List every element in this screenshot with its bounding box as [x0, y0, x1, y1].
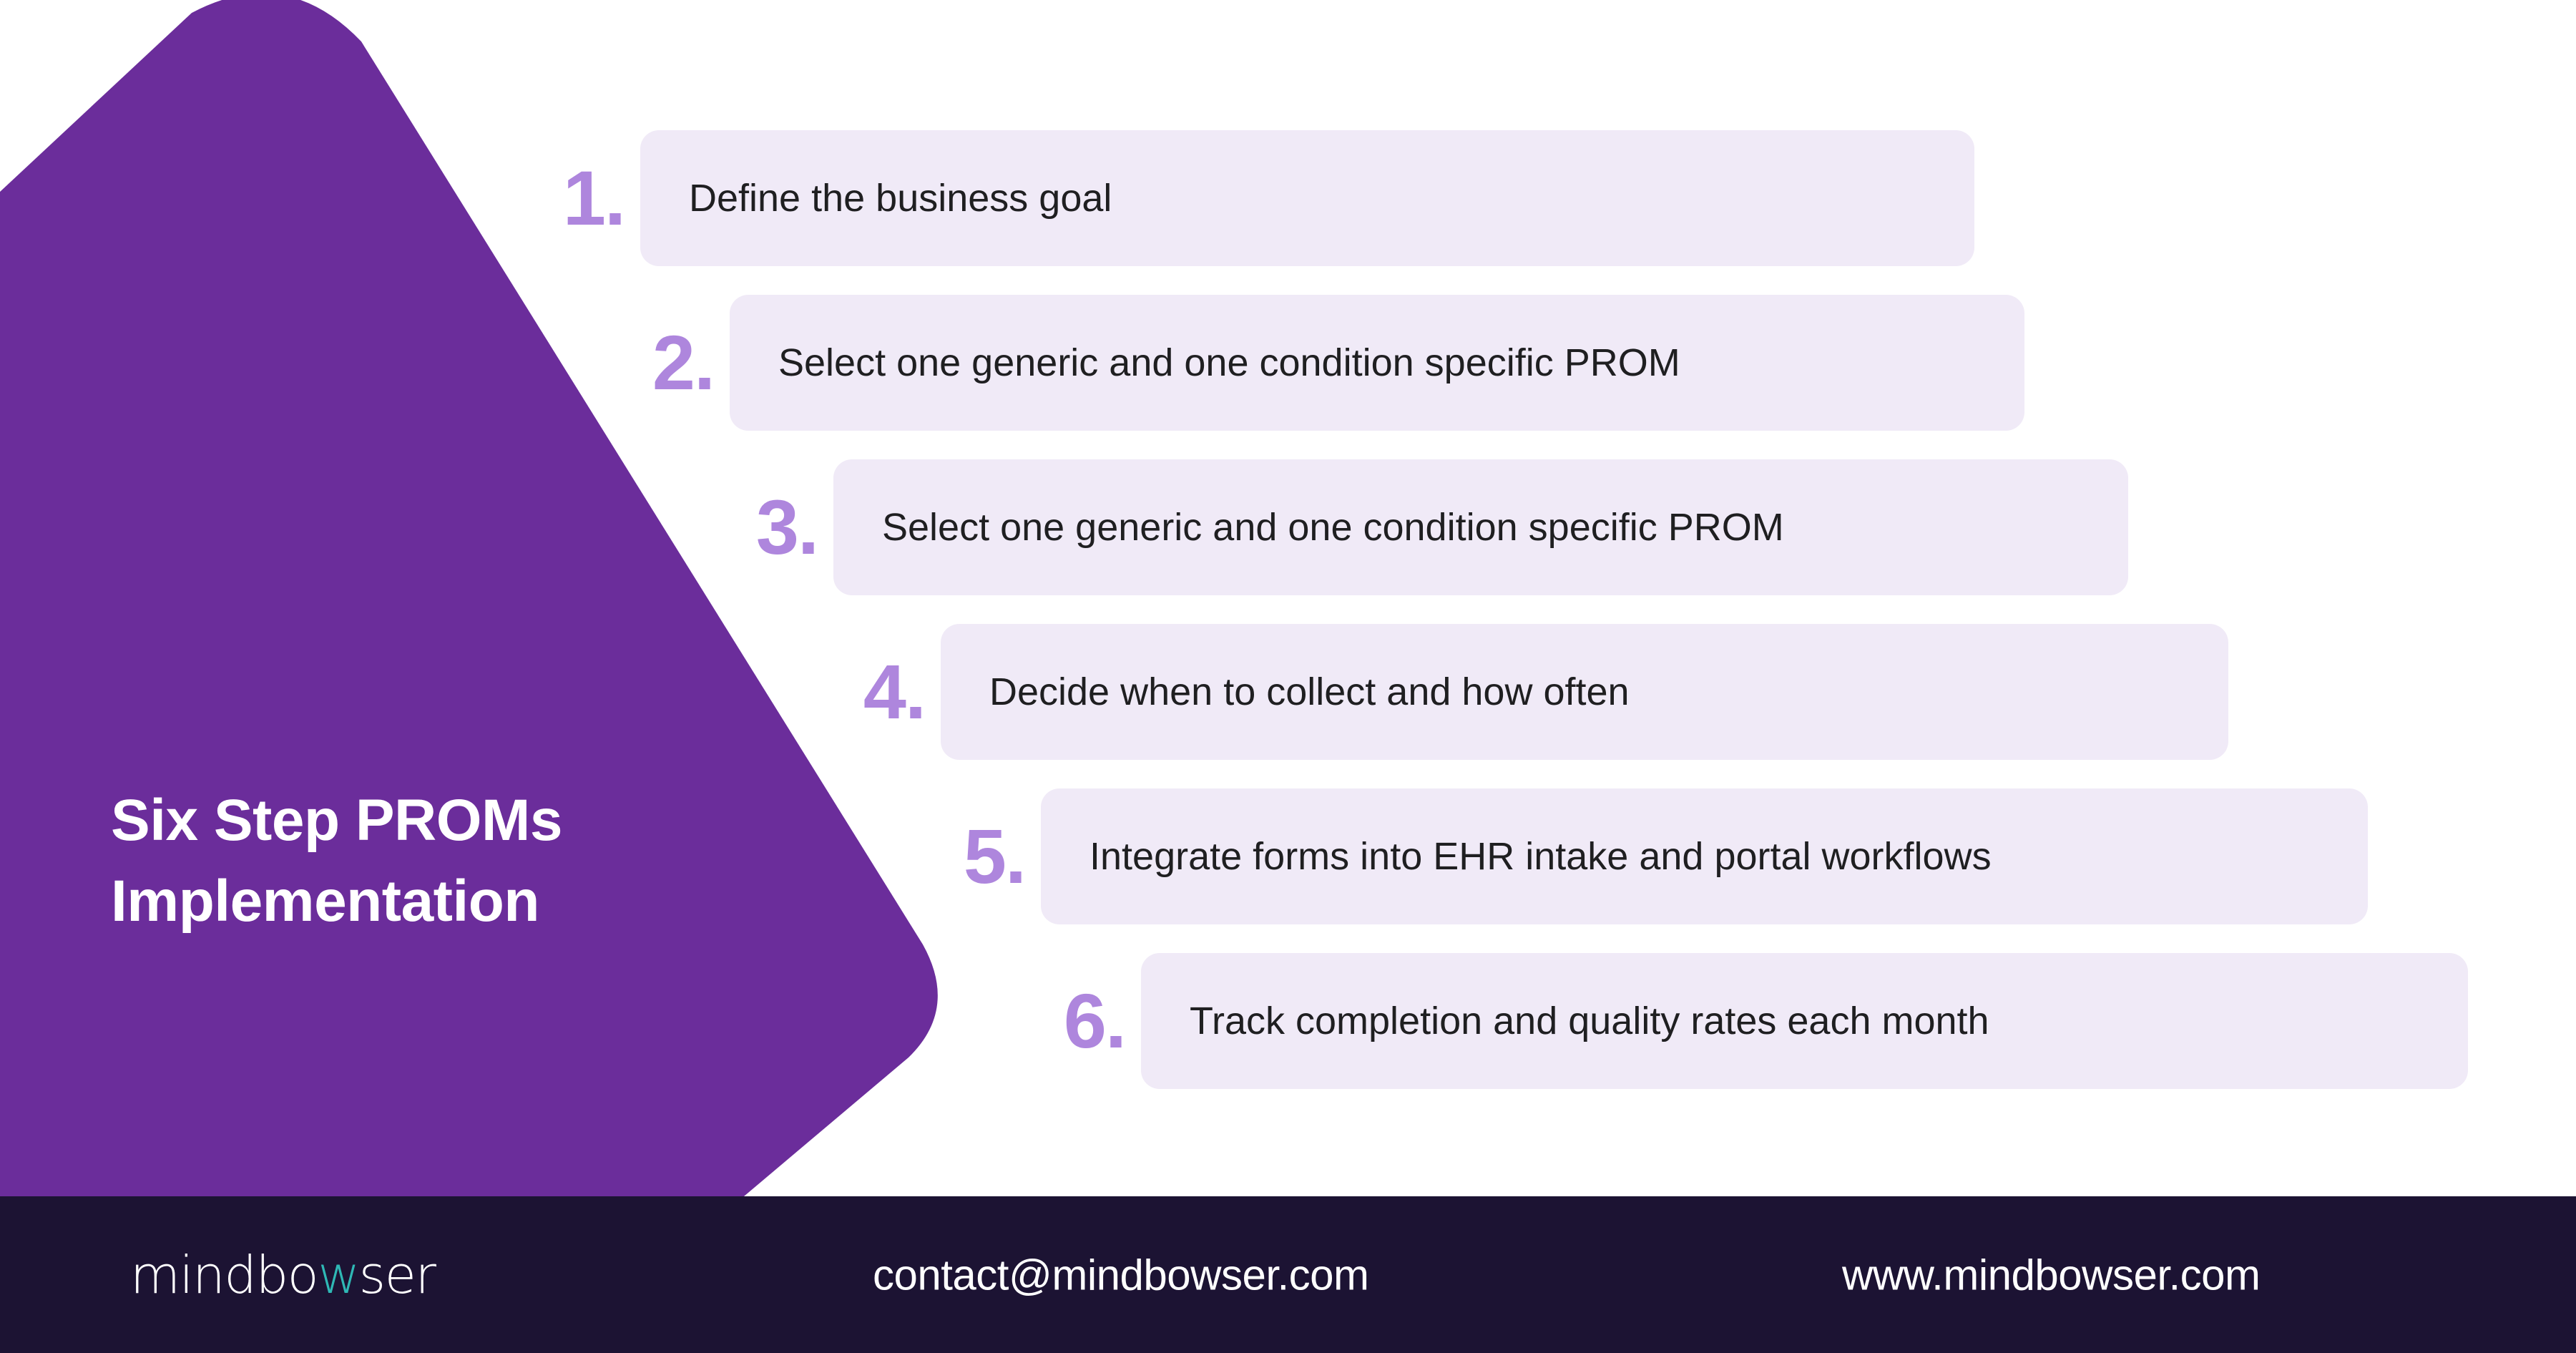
step-number-5: 5.	[951, 818, 1041, 895]
step-label-6: Track completion and quality rates each …	[1190, 1002, 1989, 1040]
step-label-3: Select one generic and one condition spe…	[882, 508, 1784, 547]
step-card-6: Track completion and quality rates each …	[1141, 953, 2468, 1089]
step-row-6: 6. Track completion and quality rates ea…	[1052, 953, 2468, 1089]
step-label-4: Decide when to collect and how often	[989, 673, 1630, 711]
step-row-3: 3. Select one generic and one condition …	[744, 459, 2128, 595]
step-row-1: 1. Define the business goal	[551, 130, 1974, 266]
step-row-4: 4. Decide when to collect and how often	[851, 624, 2228, 760]
mindbowser-logo: mindbowser	[130, 1245, 436, 1305]
step-number-6: 6.	[1052, 982, 1141, 1060]
steps-list: 1. Define the business goal 2. Select on…	[0, 0, 2576, 1196]
infographic-canvas: Six Step PROMs Implementation 1. Define …	[0, 0, 2576, 1353]
step-card-2: Select one generic and one condition spe…	[730, 295, 2024, 431]
contact-email[interactable]: contact@mindbowser.com	[873, 1250, 1369, 1299]
step-number-1: 1.	[551, 160, 640, 237]
step-number-3: 3.	[744, 489, 833, 566]
logo-text-accent: w	[318, 1245, 358, 1305]
step-card-5: Integrate forms into EHR intake and port…	[1041, 788, 2368, 924]
step-card-3: Select one generic and one condition spe…	[833, 459, 2128, 595]
step-card-4: Decide when to collect and how often	[941, 624, 2228, 760]
footer-bar: mindbowser contact@mindbowser.com www.mi…	[0, 1196, 2576, 1353]
website-url[interactable]: www.mindbowser.com	[1842, 1250, 2261, 1299]
logo-text-part-2: ser	[359, 1245, 436, 1305]
step-label-1: Define the business goal	[689, 179, 1112, 218]
step-row-5: 5. Integrate forms into EHR intake and p…	[951, 788, 2368, 924]
step-card-1: Define the business goal	[640, 130, 1974, 266]
step-number-2: 2.	[640, 324, 730, 401]
step-row-2: 2. Select one generic and one condition …	[640, 295, 2024, 431]
logo-text-part-1: mindbo	[130, 1245, 318, 1305]
step-label-2: Select one generic and one condition spe…	[778, 343, 1680, 382]
step-label-5: Integrate forms into EHR intake and port…	[1089, 837, 1992, 876]
step-number-4: 4.	[851, 653, 941, 731]
